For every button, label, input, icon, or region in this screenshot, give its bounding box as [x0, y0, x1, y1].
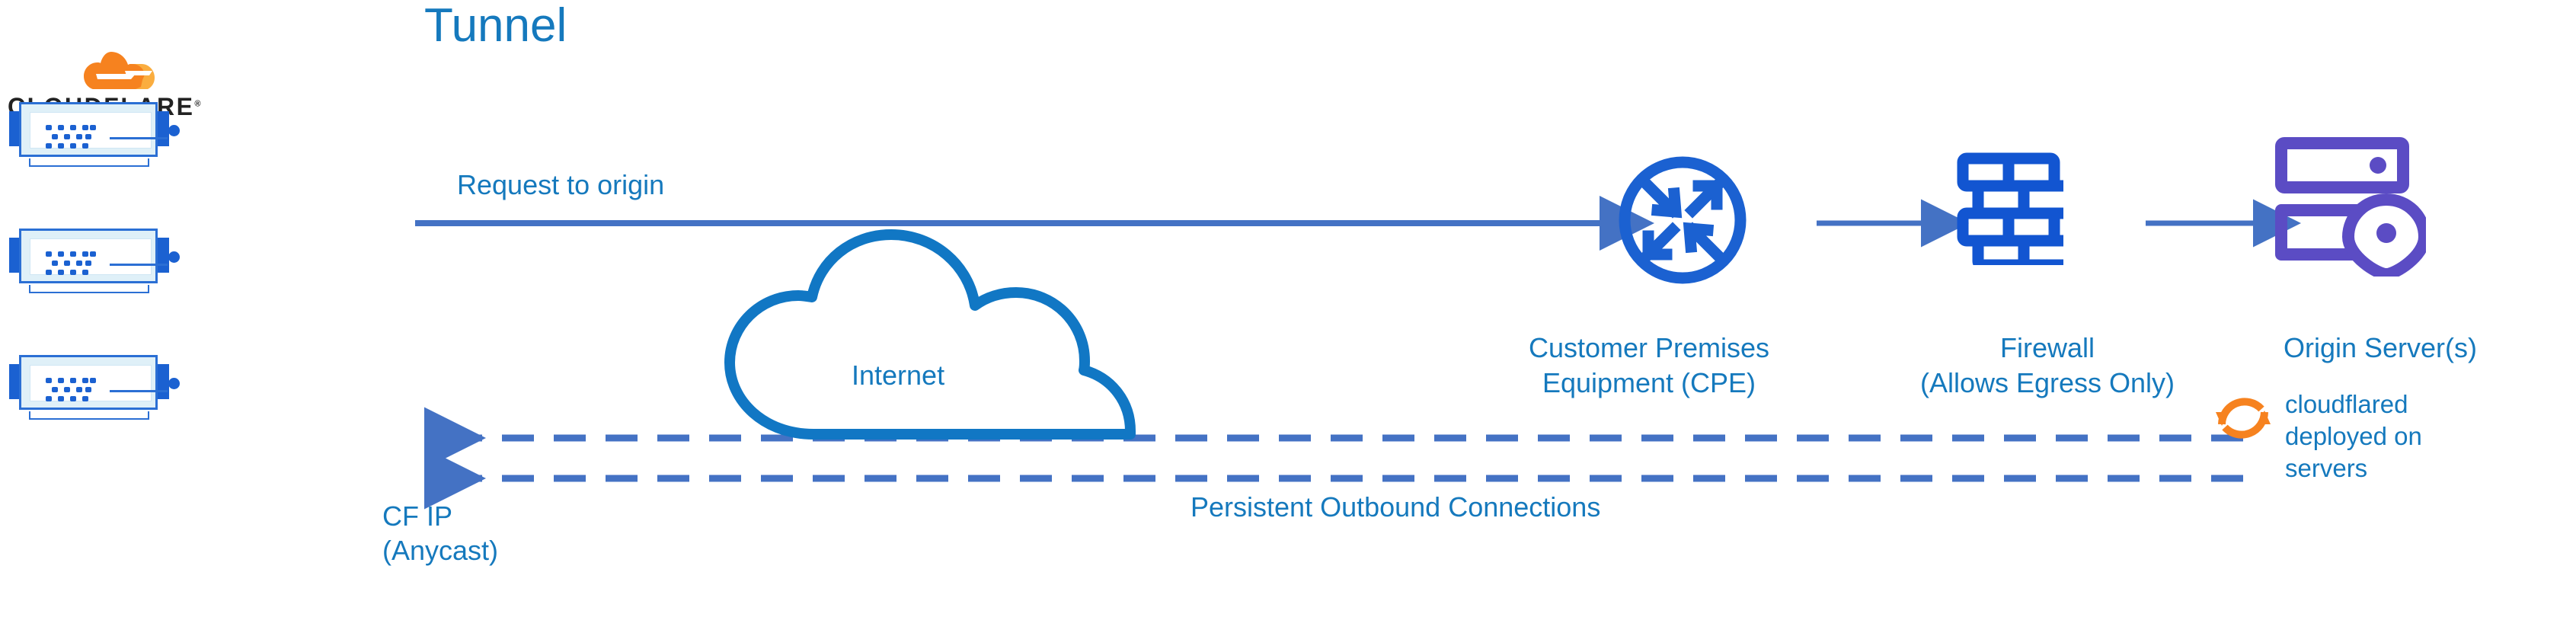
origin-server-label: Origin Server(s): [2216, 331, 2544, 366]
vent-holes: [46, 378, 96, 405]
rack-ear-right: [157, 111, 169, 146]
page-title: Tunnel: [424, 0, 567, 53]
server-chassis: [19, 229, 158, 283]
firewall-label: Firewall (Allows Egress Only): [1842, 331, 2253, 401]
origin-server-pin-icon: [2274, 136, 2426, 280]
faceplate-line: [110, 264, 168, 266]
cloudflare-cloud-icon: [78, 46, 161, 97]
refresh-circular-arrows-icon: [2211, 386, 2275, 454]
status-led: [168, 251, 180, 263]
internet-label: Internet: [852, 360, 944, 392]
registered-mark: ®: [194, 99, 200, 108]
cloudflared-note-line1: cloudflared: [2285, 388, 2460, 420]
server-chassis: [19, 102, 158, 157]
cf-ip-caption-line2: (Anycast): [382, 533, 498, 567]
cloudflared-note-line3: servers: [2285, 452, 2460, 484]
vent-holes: [46, 251, 96, 279]
server-unit-2: [9, 229, 169, 294]
origin-server-label-line1: Origin Server(s): [2216, 331, 2544, 366]
persistent-flow-label: Persistent Outbound Connections: [1191, 491, 1600, 523]
brick-wall-icon: [1957, 152, 2063, 269]
server-faceplate: [30, 365, 152, 401]
cpe-label-line1: Customer Premises: [1478, 331, 1820, 366]
tunnel-diagram-canvas: Tunnel CLOUDFLARE®: [0, 0, 2576, 617]
request-flow-label: Request to origin: [457, 169, 664, 201]
vent-holes: [46, 125, 96, 152]
server-shelf: [29, 285, 149, 293]
cloudflared-note: cloudflared deployed on servers: [2285, 388, 2460, 484]
server-chassis: [19, 355, 158, 410]
cf-ip-caption: CF IP (Anycast): [382, 499, 498, 567]
faceplate-line: [110, 137, 168, 139]
firewall-label-line1: Firewall: [1842, 331, 2253, 366]
server-shelf: [29, 158, 149, 167]
cloud-outline-icon: [699, 229, 1156, 453]
server-faceplate: [30, 238, 152, 275]
server-shelf: [29, 411, 149, 420]
cloudflared-note-line2: deployed on: [2285, 420, 2460, 452]
status-led: [168, 125, 180, 136]
server-faceplate: [30, 112, 152, 149]
cpe-converge-arrows-icon: [1613, 151, 1752, 293]
cpe-label: Customer Premises Equipment (CPE): [1478, 331, 1820, 401]
status-led: [168, 378, 180, 389]
faceplate-line: [110, 390, 168, 392]
cf-ip-caption-line1: CF IP: [382, 499, 498, 533]
server-unit-1: [9, 102, 169, 168]
firewall-label-line2: (Allows Egress Only): [1842, 366, 2253, 401]
rack-ear-right: [157, 238, 169, 273]
rack-ear-right: [157, 364, 169, 399]
cpe-label-line2: Equipment (CPE): [1478, 366, 1820, 401]
server-unit-3: [9, 355, 169, 420]
